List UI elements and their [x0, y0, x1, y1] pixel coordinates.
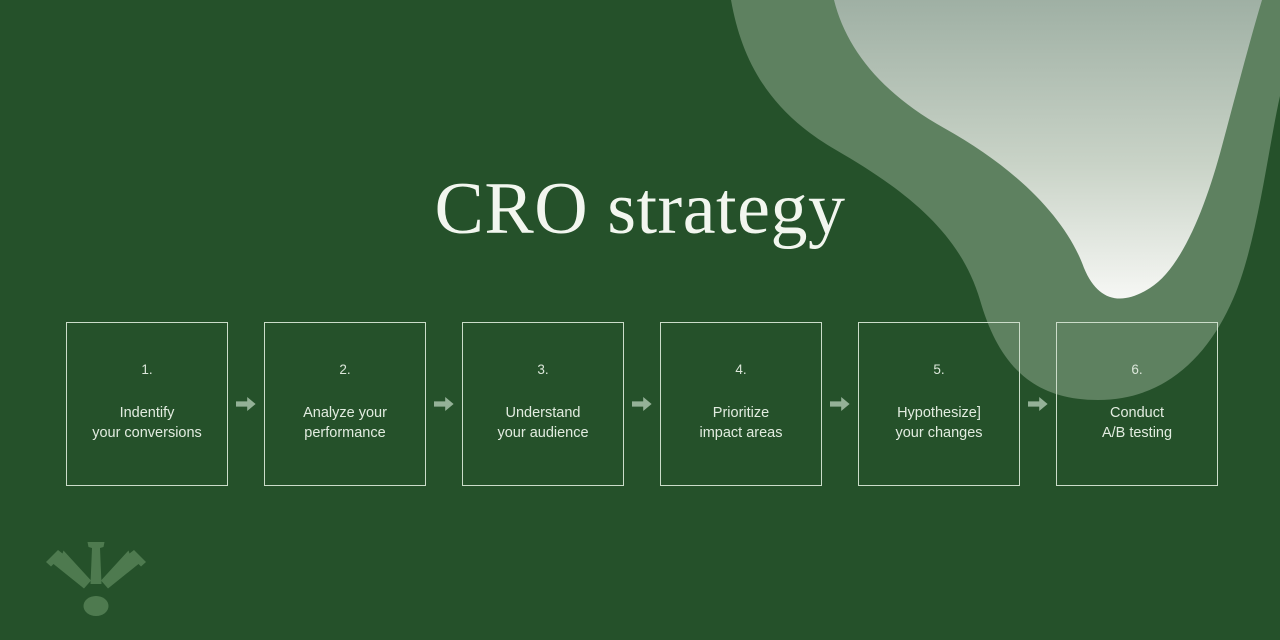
step-arrow-5 [1020, 322, 1056, 486]
step-box-5[interactable]: 5. Hypothesize] your changes [858, 322, 1020, 486]
step-number: 3. [537, 363, 548, 377]
step-label: Analyze your performance [303, 403, 387, 444]
gradient-wave-shape [834, 0, 1262, 299]
arrow-right-icon [1028, 395, 1048, 413]
step-label: Conduct A/B testing [1102, 403, 1172, 444]
step-box-2[interactable]: 2. Analyze your performance [264, 322, 426, 486]
page-title: CRO strategy [0, 172, 1280, 246]
background-decoration [0, 0, 1280, 640]
arrow-right-icon [434, 395, 454, 413]
arrow-right-icon [632, 395, 652, 413]
step-label: Prioritize impact areas [699, 403, 782, 444]
step-number: 6. [1131, 363, 1142, 377]
step-number: 5. [933, 363, 944, 377]
step-arrow-3 [624, 322, 660, 486]
cro-strategy-steps: 1. Indentify your conversions 2. Analyze… [66, 322, 1214, 486]
step-label: Understand your audience [497, 403, 588, 444]
step-label: Indentify your conversions [92, 403, 202, 444]
step-number: 4. [735, 363, 746, 377]
step-label: Hypothesize] your changes [895, 403, 982, 444]
trident-exclamation-icon [41, 540, 151, 618]
arrow-right-icon [236, 395, 256, 413]
step-number: 2. [339, 363, 350, 377]
step-box-6[interactable]: 6. Conduct A/B testing [1056, 322, 1218, 486]
slide-canvas: CRO strategy 1. Indentify your conversio… [0, 0, 1280, 640]
step-box-3[interactable]: 3. Understand your audience [462, 322, 624, 486]
step-box-4[interactable]: 4. Prioritize impact areas [660, 322, 822, 486]
step-box-1[interactable]: 1. Indentify your conversions [66, 322, 228, 486]
step-number: 1. [141, 363, 152, 377]
arrow-right-icon [830, 395, 850, 413]
step-arrow-4 [822, 322, 858, 486]
step-arrow-1 [228, 322, 264, 486]
brand-logo[interactable] [41, 540, 151, 618]
step-arrow-2 [426, 322, 462, 486]
